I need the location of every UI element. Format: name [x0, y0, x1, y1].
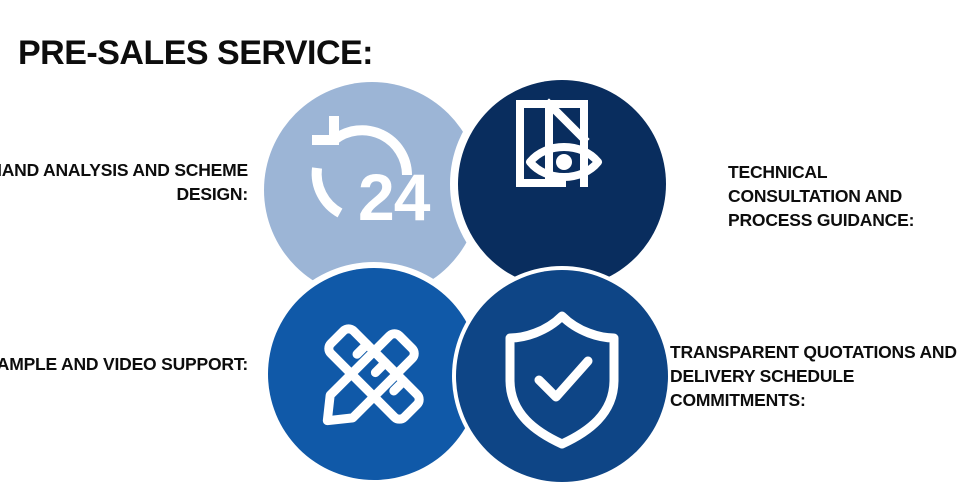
four-circle-diagram: 24: [262, 80, 672, 484]
circle-transparent-quotations-fill: [262, 80, 672, 484]
label-sample-video-support: SAMPLE AND VIDEO SUPPORT:: [0, 352, 248, 376]
label-transparent-quotations: TRANSPARENT QUOTATIONS AND DELIVERY SCHE…: [670, 340, 960, 412]
page-title: PRE-SALES SERVICE:: [18, 34, 373, 73]
circle-transparent-quotations[interactable]: [262, 80, 672, 484]
label-technical-consultation: TECHNICAL CONSULTATION AND PROCESS GUIDA…: [728, 160, 960, 232]
label-demand-analysis: DEMAND ANALYSIS AND SCHEME DESIGN:: [0, 158, 248, 206]
